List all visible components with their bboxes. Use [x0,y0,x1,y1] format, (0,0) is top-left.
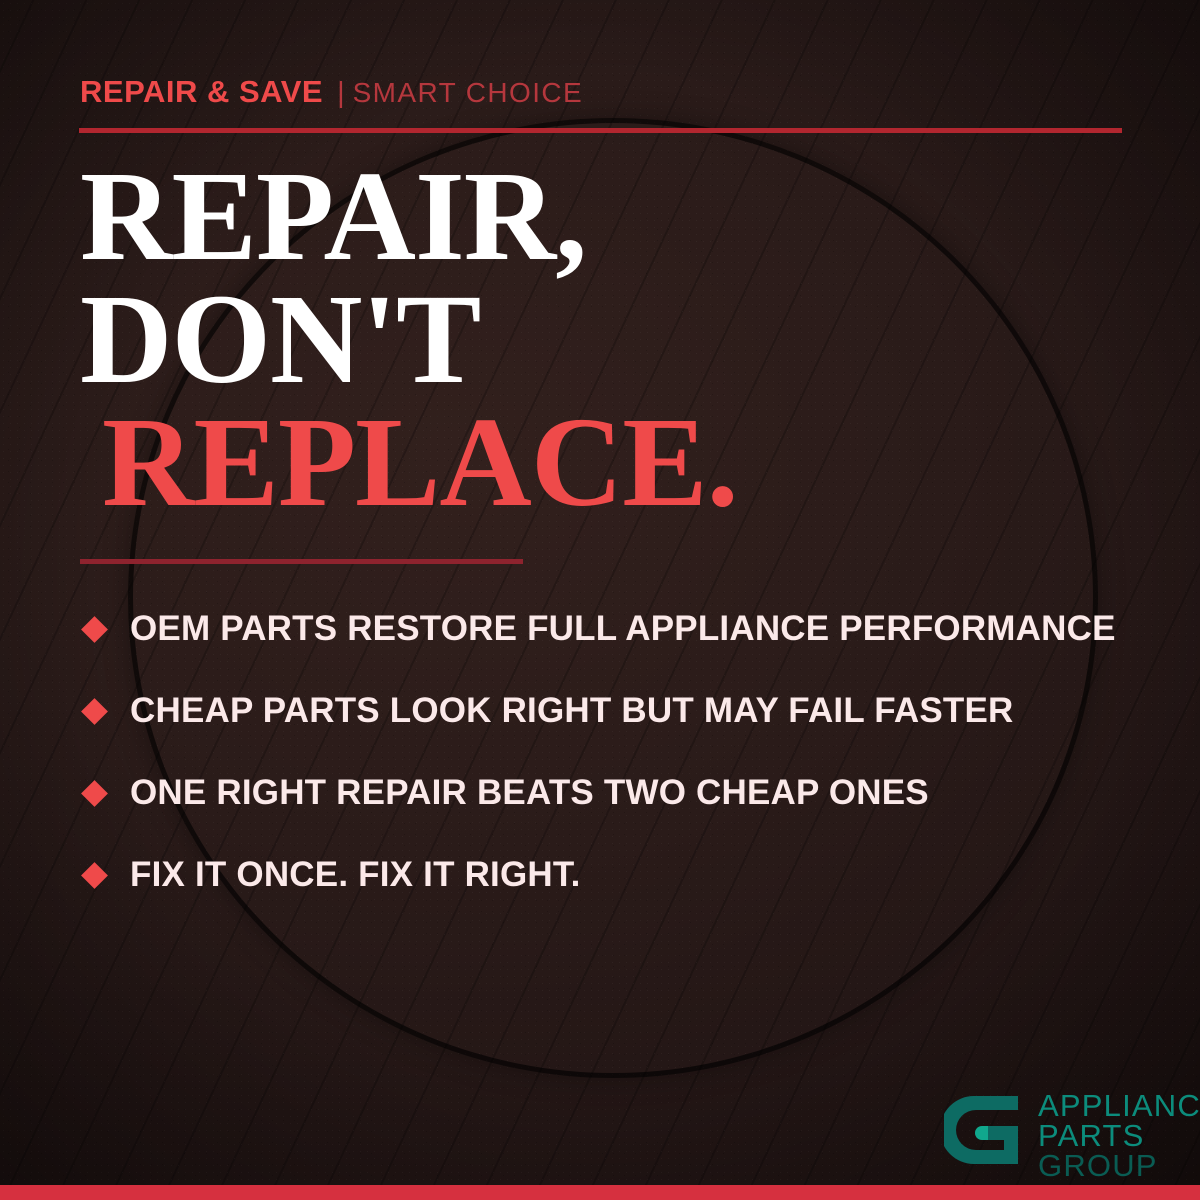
brand-logo-wordmark: APPLIANCE PARTS GROUP [1038,1090,1200,1180]
logo-word-group: GROUP [1038,1151,1200,1181]
benefits-list: OEM PARTS RESTORE FULL APPLIANCE PERFORM… [80,588,1170,916]
diamond-bullet-icon [81,698,108,725]
page-title: REPAIR, DON'T REPLACE. [80,155,1130,524]
eyebrow-separator: | [337,77,345,110]
poster-content: REPAIR & SAVE | SMART CHOICE REPAIR, DON… [0,0,1200,1200]
headline-line-1: REPAIR, [80,155,1130,278]
list-item-label: OEM PARTS RESTORE FULL APPLIANCE PERFORM… [130,609,1116,649]
promo-poster: REPAIR & SAVE | SMART CHOICE REPAIR, DON… [0,0,1200,1200]
eyebrow-sub-label: SMART CHOICE [353,77,583,109]
diamond-bullet-icon [81,780,108,807]
eyebrow-header: REPAIR & SAVE | SMART CHOICE [80,74,583,110]
headline-divider-rule [80,559,523,564]
g-monogram-icon [944,1090,1022,1170]
diamond-bullet-icon [81,616,108,643]
list-item: ONE RIGHT REPAIR BEATS TWO CHEAP ONES [80,752,1170,834]
logo-word-appliance: APPLIANCE [1038,1091,1200,1121]
eyebrow-main-label: REPAIR & SAVE [80,74,323,110]
list-item: FIX IT ONCE. FIX IT RIGHT. [80,834,1170,916]
header-divider-rule [79,128,1122,133]
brand-logo: APPLIANCE PARTS GROUP [944,1090,1200,1180]
bottom-accent-bar [0,1185,1200,1200]
list-item-label: FIX IT ONCE. FIX IT RIGHT. [130,855,581,895]
headline-line-2: DON'T [80,278,1130,401]
list-item-label: CHEAP PARTS LOOK RIGHT BUT MAY FAIL FAST… [130,691,1014,731]
list-item-label: ONE RIGHT REPAIR BEATS TWO CHEAP ONES [130,773,929,813]
logo-word-parts: PARTS [1038,1121,1200,1151]
headline-line-3: REPLACE. [80,401,1130,524]
diamond-bullet-icon [81,862,108,889]
list-item: CHEAP PARTS LOOK RIGHT BUT MAY FAIL FAST… [80,670,1170,752]
list-item: OEM PARTS RESTORE FULL APPLIANCE PERFORM… [80,588,1170,670]
